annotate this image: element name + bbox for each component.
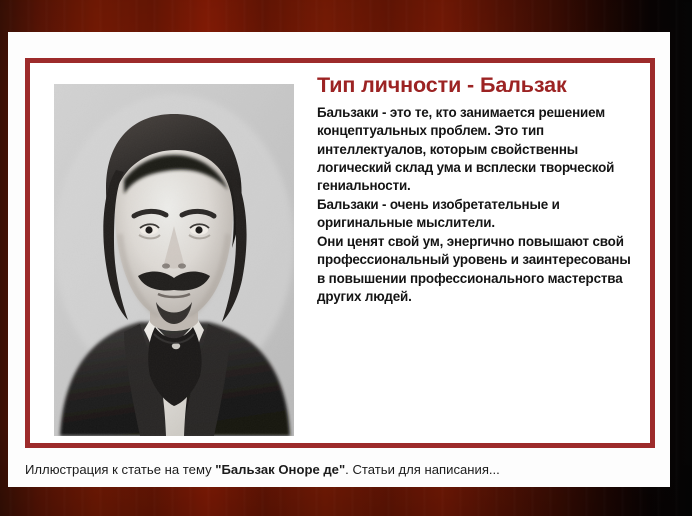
balzac-portrait [54,84,294,436]
caption-suffix: . Статьи для написания... [345,462,500,477]
article-title: Тип личности - Бальзак [317,74,638,97]
article-text-column: Тип личности - Бальзак Бальзаки - это те… [317,74,638,306]
frame-inner: Тип личности - Бальзак Бальзаки - это те… [30,63,650,443]
caption-prefix: Иллюстрация к статье на тему [25,462,215,477]
page-root: Тип личности - Бальзак Бальзаки - это те… [0,0,692,516]
article-paragraph-1: Бальзаки - это те, кто занимается решени… [317,104,638,195]
article-paragraph-3: Они ценят свой ум, энергично повышают св… [317,233,638,306]
article-paragraph-2: Бальзаки - очень изобретательные и ориги… [317,196,638,232]
illustration-caption: Иллюстрация к статье на тему "Бальзак Он… [25,457,658,483]
caption-quoted-title: "Бальзак Оноре де" [215,462,345,477]
illustration-card: Тип личности - Бальзак Бальзаки - это те… [8,32,670,487]
maroon-frame: Тип личности - Бальзак Бальзаки - это те… [25,58,655,448]
portrait-image [54,84,294,436]
